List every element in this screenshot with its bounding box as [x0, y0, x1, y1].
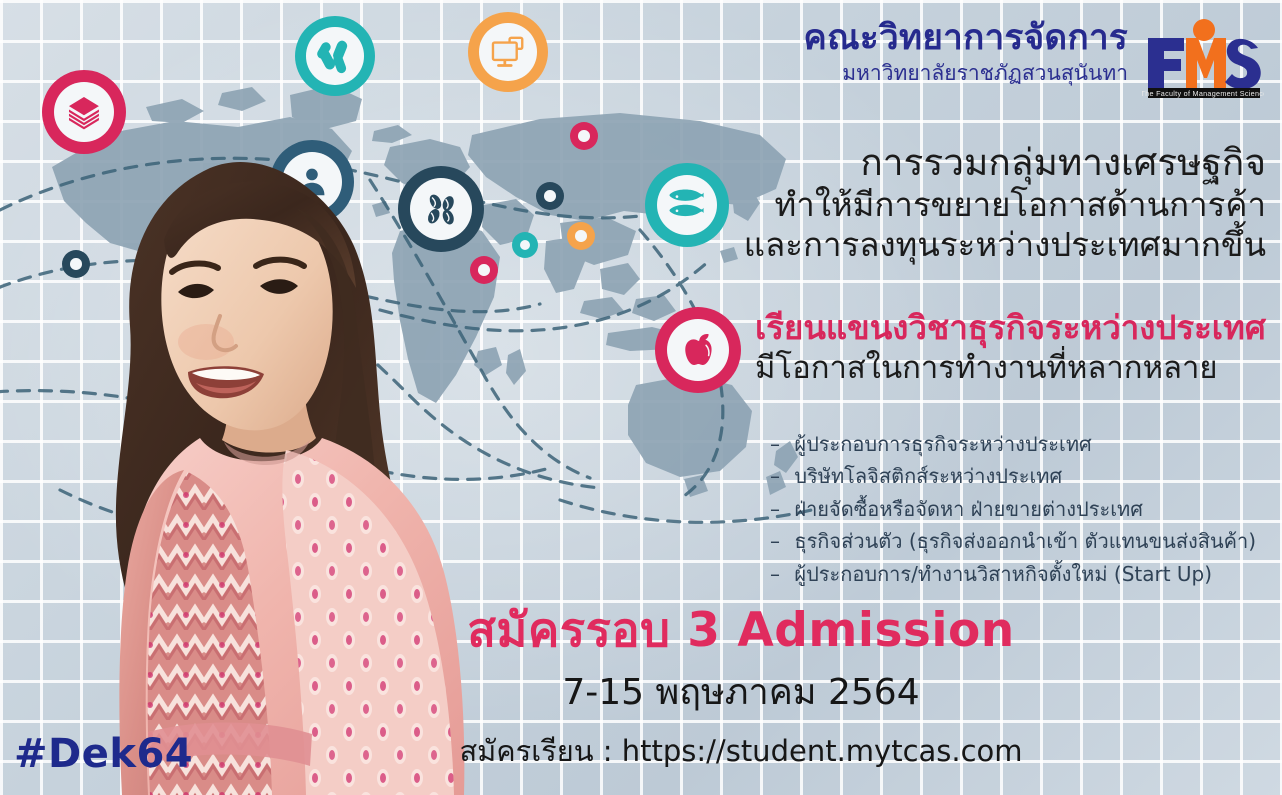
fms-logo-tagline: The Faculty of Management Science	[1142, 89, 1264, 98]
admission-url[interactable]: สมัครเรียน : https://student.mytcas.com	[200, 728, 1282, 774]
headline-line-3: และการลงทุนระหว่างประเทศมากขึ้น	[744, 225, 1266, 265]
bullet-dash: –	[770, 525, 788, 557]
map-pin-dot-pink-1	[570, 122, 598, 150]
brand-text-block: คณะวิทยาการจัดการ มหาวิทยาลัยราชภัฏสวนสุ…	[803, 18, 1128, 87]
list-item: – ธุรกิจส่วนตัว (ธุรกิจส่งออกนำเข้า ตัวแ…	[770, 525, 1256, 557]
university-name-th: มหาวิทยาลัยราชภัฏสวนสุนันทา	[803, 60, 1128, 87]
headline-line-2: ทำให้มีการขยายโอกาสด้านการค้า	[744, 185, 1266, 225]
poster-root: คณะวิทยาการจัดการ มหาวิทยาลัยราชภัฏสวนสุ…	[0, 0, 1282, 795]
bullet-dash: –	[770, 558, 788, 590]
career-list: – ผู้ประกอบการธุรกิจระหว่างประเทศ – บริษ…	[770, 428, 1256, 590]
career-label: ผู้ประกอบการ/ทำงานวิสาหกิจตั้งใหม่ (Star…	[794, 562, 1212, 586]
career-label: ฝ่ายจัดซื้อหรือจัดหา ฝ่ายขายต่างประเทศ	[794, 497, 1143, 521]
bullet-dash: –	[770, 460, 788, 492]
hashtag-dek64: #Dek64	[14, 731, 193, 777]
map-pin-dot-navy-1	[536, 182, 564, 210]
program-name-highlight: เรียนแขนงวิชาธุรกิจระหว่างประเทศ	[755, 308, 1266, 348]
apple-icon	[655, 307, 741, 393]
bullet-dash: –	[770, 493, 788, 525]
admission-date: 7-15 พฤษภาคม 2564	[200, 663, 1282, 720]
headline-line-1: การรวมกลุ่มทางเศรษฐกิจ	[744, 140, 1266, 185]
brand-header: คณะวิทยาการจัดการ มหาวิทยาลัยราชภัฏสวนสุ…	[803, 18, 1264, 98]
faculty-name-th: คณะวิทยาการจัดการ	[803, 20, 1128, 57]
list-item: – ฝ่ายจัดซื้อหรือจัดหา ฝ่ายขายต่างประเทศ	[770, 493, 1256, 525]
monitor-screen-icon	[468, 12, 548, 92]
bullet-dash: –	[770, 428, 788, 460]
list-item: – บริษัทโลจิสติกส์ระหว่างประเทศ	[770, 460, 1256, 492]
career-label: บริษัทโลจิสติกส์ระหว่างประเทศ	[794, 464, 1062, 488]
map-pin-dot-orange-1	[567, 222, 595, 250]
main-headline: การรวมกลุ่มทางเศรษฐกิจ ทำให้มีการขยายโอก…	[744, 140, 1266, 266]
list-item: – ผู้ประกอบการธุรกิจระหว่างประเทศ	[770, 428, 1256, 460]
career-label: ธุรกิจส่วนตัว (ธุรกิจส่งออกนำเข้า ตัวแทน…	[794, 529, 1256, 553]
fms-logo: The Faculty of Management Science	[1142, 18, 1264, 98]
career-label: ผู้ประกอบการธุรกิจระหว่างประเทศ	[794, 432, 1091, 456]
list-item: – ผู้ประกอบการ/ทำงานวิสาหกิจตั้งใหม่ (St…	[770, 558, 1256, 590]
admission-title: สมัครรอบ 3 Admission	[200, 605, 1282, 657]
program-subtitle: มีโอกาสในการทำงานที่หลากหลาย	[755, 350, 1266, 387]
fish-icon	[645, 163, 729, 247]
pills-capsule-icon	[295, 16, 375, 96]
program-highlight: เรียนแขนงวิชาธุรกิจระหว่างประเทศ มีโอกาส…	[755, 308, 1266, 387]
